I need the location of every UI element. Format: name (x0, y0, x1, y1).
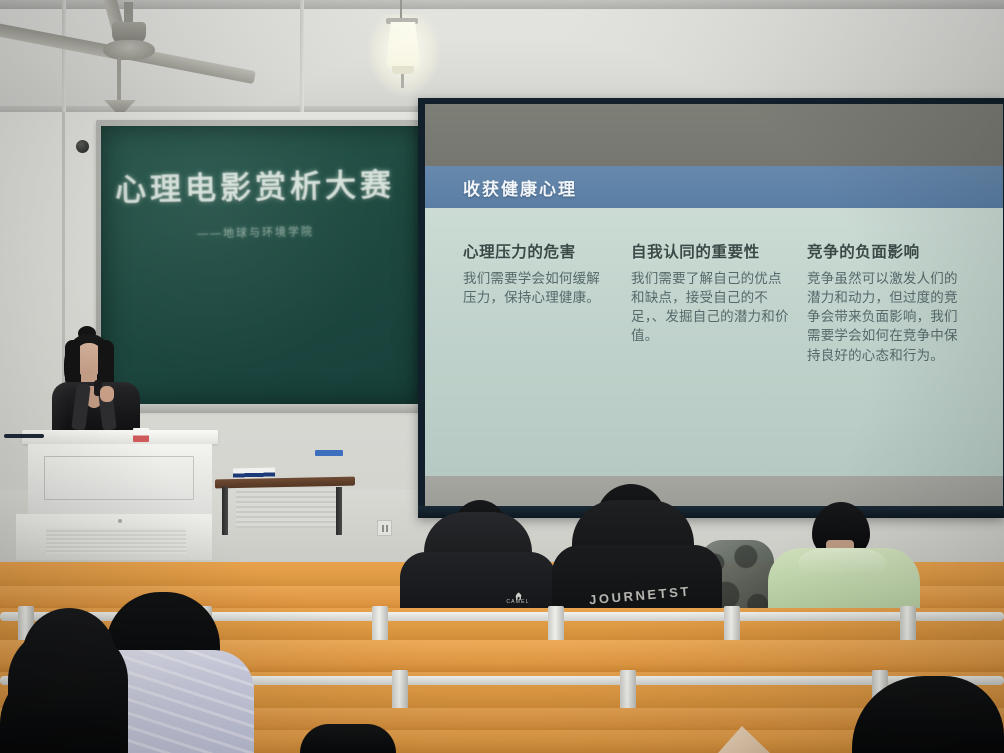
floor-cable (4, 434, 44, 438)
column-heading: 自我认同的重要性 (631, 240, 791, 262)
wall-blue-strip (315, 450, 343, 456)
student-foreground-center (300, 724, 396, 753)
slide-columns: 心理压力的危害 我们需要学会如何缓解压力，保持心理健康。 自我认同的重要性 我们… (455, 240, 979, 365)
side-desk-leg-right (336, 487, 342, 535)
presenter (48, 326, 144, 438)
slide-title: 收获健康心理 (463, 175, 577, 200)
blackboard-subtitle: ——地球与环境学院 (197, 223, 314, 241)
slide-column-3: 竞争的负面影响 竞争虽然可以激发人们的潜力和动力，但过度的竞争会带来负面影响，我… (807, 240, 967, 365)
wall-seam (62, 0, 66, 118)
camel-logo: CAMEL (503, 592, 533, 606)
podium-top (22, 430, 218, 444)
slide-top-band (425, 104, 1003, 166)
column-heading: 心理压力的危害 (463, 240, 615, 262)
hair-strand-left (65, 340, 80, 388)
projection-screen-surface: 收获健康心理 心理压力的危害 我们需要学会如何缓解压力，保持心理健康。 自我认同… (425, 104, 1003, 512)
wall-seam (300, 0, 304, 118)
column-body: 竞争虽然可以激发人们的潜力和动力，但过度的竞争会带来负面影响，我们需要学会如何在… (807, 269, 967, 365)
radiator (236, 488, 336, 528)
column-body: 我们需要学会如何缓解压力，保持心理健康。 (463, 269, 609, 307)
hand (100, 386, 114, 402)
side-desk-leg-left (222, 487, 228, 535)
ceiling-beam (0, 0, 1004, 9)
slide-column-1: 心理压力的危害 我们需要学会如何缓解压力，保持心理健康。 (455, 240, 615, 365)
chalk-tray (96, 404, 426, 413)
column-body: 我们需要了解自己的优点和缺点，接受自己的不足，、发掘自己的潜力和价值。 (631, 269, 791, 346)
podium-panel (44, 456, 194, 500)
podium-vent (46, 528, 186, 554)
podium-knob (118, 519, 122, 523)
lecture-hall-scene: 心理电影赏析大赛 ——地球与环境学院 收获健康心理 心理压力的危害 我们需要学会… (0, 0, 1004, 753)
blackboard-title: 心理电影赏析大赛 (115, 159, 416, 210)
slide-title-bar: 收获健康心理 (425, 166, 1003, 208)
column-heading: 竞争的负面影响 (807, 240, 967, 262)
slide-body: 心理压力的危害 我们需要学会如何缓解压力，保持心理健康。 自我认同的重要性 我们… (425, 208, 1003, 476)
hoodie-collar (798, 548, 886, 578)
wall-sensor-icon (76, 140, 89, 153)
slide-column-2: 自我认同的重要性 我们需要了解自己的优点和缺点，接受自己的不足，、发掘自己的潜力… (631, 240, 791, 365)
blackboard: 心理电影赏析大赛 ——地球与环境学院 (101, 126, 421, 404)
podium-object (133, 428, 149, 442)
power-outlet-icon (377, 520, 392, 536)
presentation-slide: 收获健康心理 心理压力的危害 我们需要学会如何缓解压力，保持心理健康。 自我认同… (425, 104, 1003, 476)
